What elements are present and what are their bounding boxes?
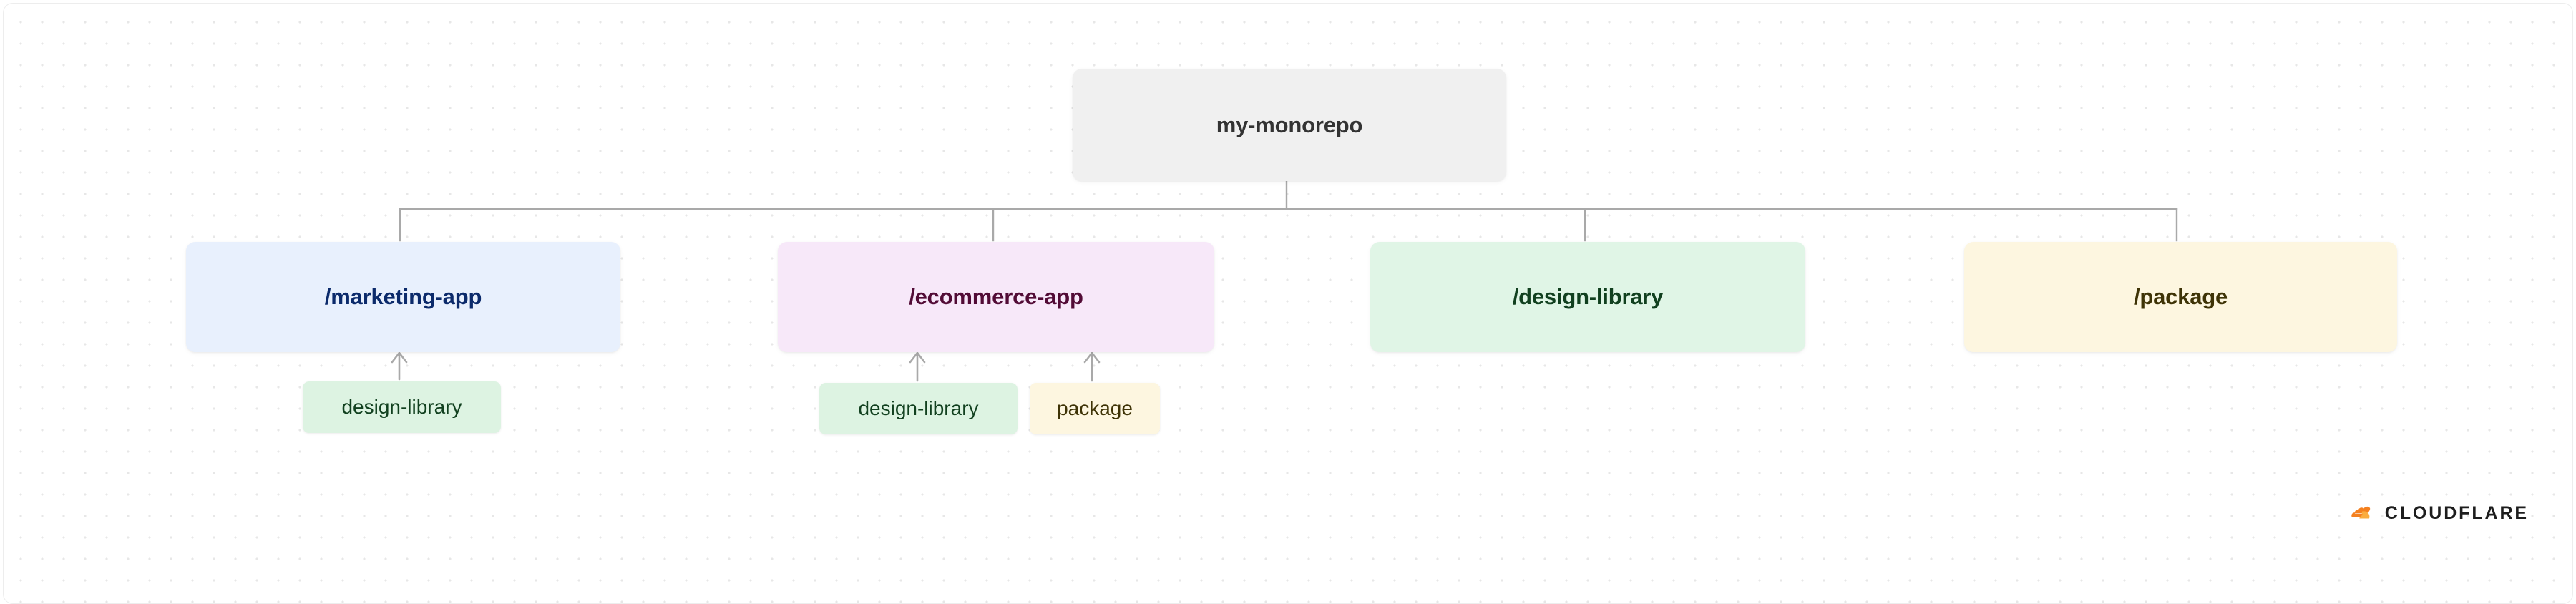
arrowhead-dep-marketing-design-library (392, 353, 406, 362)
node-package[interactable]: /package (1964, 242, 2397, 352)
node-label-design-library: /design-library (1513, 284, 1664, 310)
dep-tag-marketing-design-library[interactable]: design-library (303, 381, 501, 433)
node-ecommerce-app[interactable]: /ecommerce-app (778, 242, 1214, 352)
cloudflare-cloud-icon (2350, 499, 2376, 527)
node-marketing-app[interactable]: /marketing-app (186, 242, 620, 352)
node-label-package: /package (2134, 284, 2228, 310)
diagram-canvas[interactable]: my-monorepo /marketing-app design-librar… (3, 3, 2573, 604)
cloudflare-logo: CLOUDFLARE (2350, 493, 2529, 533)
arrowhead-dep-ecommerce-package (1085, 353, 1099, 362)
dep-tag-ecommerce-design-library[interactable]: design-library (819, 383, 1018, 434)
dep-tag-label-ecommerce-design-library: design-library (858, 397, 978, 420)
node-label-ecommerce-app: /ecommerce-app (909, 284, 1083, 310)
dep-tag-ecommerce-package[interactable]: package (1030, 383, 1160, 434)
dep-tag-label-ecommerce-package: package (1057, 397, 1133, 420)
node-label-my-monorepo: my-monorepo (1216, 112, 1362, 138)
cloudflare-wordmark: CLOUDFLARE (2385, 505, 2529, 522)
node-my-monorepo[interactable]: my-monorepo (1073, 69, 1506, 181)
node-design-library[interactable]: /design-library (1370, 242, 1805, 352)
dep-tag-label-marketing-design-library: design-library (341, 396, 462, 419)
node-label-marketing-app: /marketing-app (325, 284, 482, 310)
arrowhead-dep-ecommerce-design-library (910, 353, 924, 362)
